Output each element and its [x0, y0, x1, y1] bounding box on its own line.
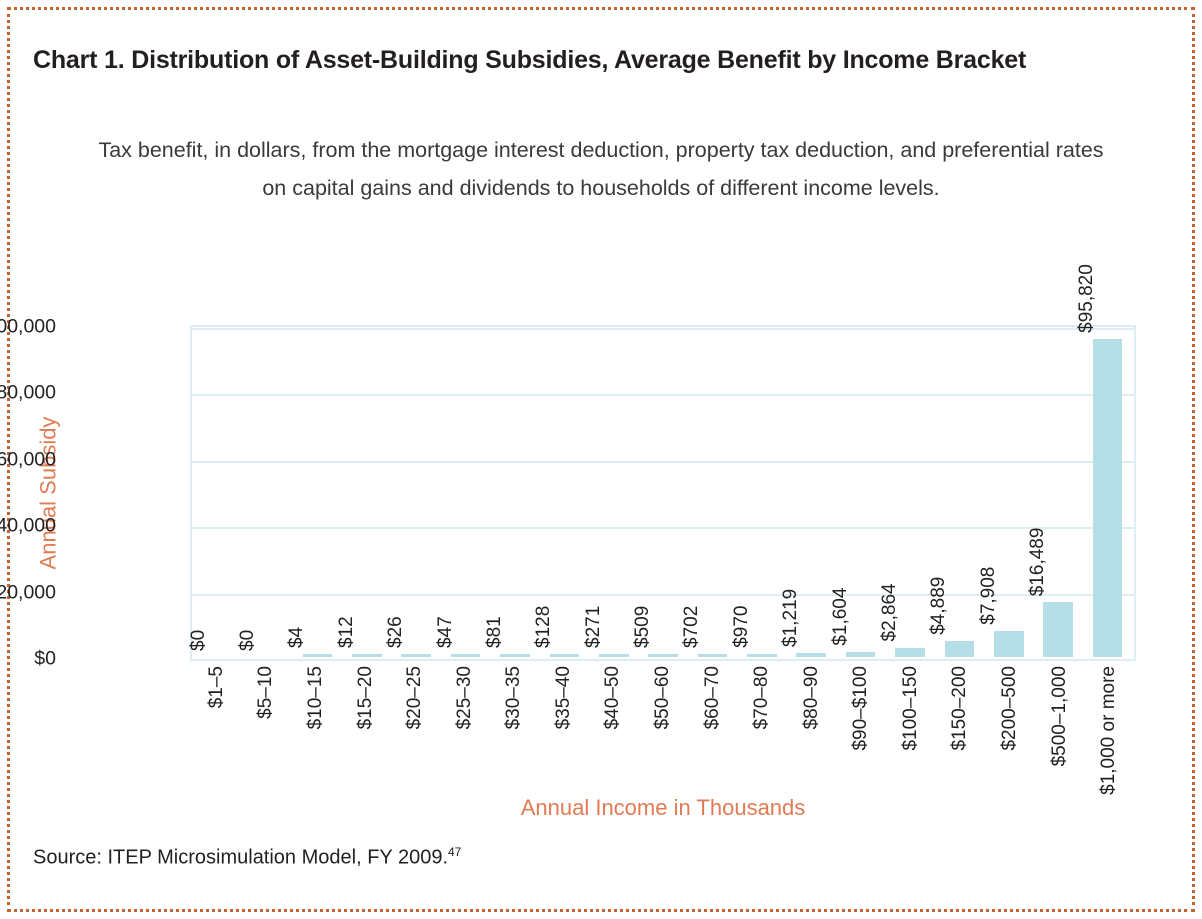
- x-axis-tick-slot: $30–35: [489, 666, 539, 786]
- bar-value-label: $128: [533, 606, 555, 648]
- x-axis-tick-slot: $100–150: [886, 666, 936, 786]
- x-axis-tick-label: $60–70: [702, 666, 724, 729]
- x-axis-tick-slot: $1,000 or more: [1084, 666, 1134, 786]
- x-axis-tick-slot: $50–60: [638, 666, 688, 786]
- bar: [895, 648, 925, 658]
- chart-page: Chart 1. Distribution of Asset-Building …: [0, 0, 1202, 919]
- bar-value-label: $12: [336, 616, 358, 648]
- bar-slot: $12: [342, 329, 391, 657]
- bar-value-label: $0: [188, 630, 210, 651]
- x-axis-tick-label: $500–1,000: [1049, 666, 1071, 766]
- bar-value-label: $4: [286, 627, 308, 648]
- bar-value-label: $7,908: [978, 567, 1000, 625]
- bar-value-label: $1,604: [830, 588, 852, 646]
- bar: [994, 631, 1024, 657]
- x-axis-tick-label: $20–25: [404, 666, 426, 729]
- bar: [550, 654, 580, 657]
- bar: [698, 654, 728, 657]
- y-axis-tick-label: $0: [0, 648, 56, 671]
- source-note: Source: ITEP Microsimulation Model, FY 2…: [33, 845, 461, 870]
- x-axis-tick-label: $15–20: [355, 666, 377, 729]
- bar: [648, 654, 678, 657]
- x-axis-tick-label: $150–200: [949, 666, 971, 751]
- bar-slot: $1,604: [836, 329, 885, 657]
- bar-value-label: $47: [435, 616, 457, 648]
- x-axis-tick-slot: $15–20: [341, 666, 391, 786]
- x-axis-tick-slot: $500–1,000: [1035, 666, 1085, 786]
- x-axis-tick-slot: $35–40: [539, 666, 589, 786]
- bar: [796, 653, 826, 657]
- bar-slot: $1,219: [787, 329, 836, 657]
- bar-slot: $4: [293, 329, 342, 657]
- x-axis-tick-slot: $80–90: [787, 666, 837, 786]
- y-axis-title-text: Annual Subsidy: [35, 417, 61, 570]
- bar-slot: $7,908: [984, 329, 1033, 657]
- bar-series: $0$0$4$12$26$47$81$128$271$509$702$970$1…: [194, 329, 1132, 657]
- bar-slot: $702: [688, 329, 737, 657]
- x-axis-tick-slot: $20–25: [390, 666, 440, 786]
- x-axis-tick-label: $40–50: [602, 666, 624, 729]
- x-axis-tick-label: $1,000 or more: [1098, 666, 1120, 795]
- x-axis-tick-label: $100–150: [900, 666, 922, 751]
- bar-value-label: $271: [583, 606, 605, 648]
- bar: [747, 654, 777, 657]
- plot-area-wrapper: $0$0$4$12$26$47$81$128$271$509$702$970$1…: [190, 325, 1136, 661]
- x-axis-tick-label: $80–90: [801, 666, 823, 729]
- bar-slot: $0: [243, 329, 292, 657]
- y-axis-title: Annual Subsidy: [30, 325, 66, 661]
- y-axis-tick-label: $20,000: [0, 581, 56, 604]
- x-axis-tick-label: $1–5: [206, 666, 228, 708]
- bar: [303, 654, 333, 657]
- x-axis-tick-slot: $5–10: [242, 666, 292, 786]
- bar-value-label: $0: [237, 630, 259, 651]
- x-axis-tick-slot: $60–70: [688, 666, 738, 786]
- bar-value-label: $81: [484, 616, 506, 648]
- x-axis-tick-slot: $40–50: [589, 666, 639, 786]
- x-axis-tick-slot: $200–500: [985, 666, 1035, 786]
- x-axis-title: Annual Income in Thousands: [190, 795, 1136, 821]
- bar-slot: $271: [589, 329, 638, 657]
- x-axis-tick-label: $25–30: [454, 666, 476, 729]
- x-axis-tick-label: $5–10: [255, 666, 277, 719]
- bar: [451, 654, 481, 657]
- x-axis-tick-label: $35–40: [553, 666, 575, 729]
- x-axis-tick-labels: $1–5$5–10$10–15$15–20$20–25$25–30$30–35$…: [192, 666, 1134, 786]
- bar-slot: $128: [540, 329, 589, 657]
- bar-value-label: $26: [385, 616, 407, 648]
- x-axis-tick-slot: $1–5: [192, 666, 242, 786]
- x-axis-tick-slot: $10–15: [291, 666, 341, 786]
- bar: [500, 654, 530, 657]
- x-axis-tick-label: $90–$100: [850, 666, 872, 751]
- x-axis-tick-label: $10–15: [305, 666, 327, 729]
- y-axis-tick-label: $40,000: [0, 515, 56, 538]
- source-text: Source: ITEP Microsimulation Model, FY 2…: [33, 847, 448, 869]
- y-axis-tick-label: $80,000: [0, 382, 56, 405]
- bar: [846, 652, 876, 657]
- bar-slot: $16,489: [1033, 329, 1082, 657]
- bar-value-label: $1,219: [780, 589, 802, 647]
- bar-slot: $0: [194, 329, 243, 657]
- chart-subtitle: Tax benefit, in dollars, from the mortga…: [96, 131, 1106, 207]
- x-axis-tick-label: $30–35: [503, 666, 525, 729]
- y-axis-tick-label: $100,000: [0, 316, 56, 339]
- x-axis-tick-label: $70–80: [751, 666, 773, 729]
- plot-area: $0$0$4$12$26$47$81$128$271$509$702$970$1…: [190, 325, 1136, 661]
- bar-value-label: $2,864: [879, 583, 901, 641]
- y-axis-tick-label: $60,000: [0, 448, 56, 471]
- bar: [1093, 339, 1123, 657]
- source-footnote-marker: 47: [448, 845, 461, 859]
- bar-value-label: $702: [681, 606, 703, 648]
- bar-value-label: $509: [632, 606, 654, 648]
- bar-slot: $26: [392, 329, 441, 657]
- x-axis-tick-slot: $70–80: [737, 666, 787, 786]
- x-axis-tick-slot: $25–30: [440, 666, 490, 786]
- bar: [401, 654, 431, 657]
- bar-slot: $4,889: [935, 329, 984, 657]
- bar: [599, 654, 629, 657]
- chart-title: Chart 1. Distribution of Asset-Building …: [33, 46, 1163, 75]
- bar-slot: $47: [441, 329, 490, 657]
- bar-value-label: $4,889: [928, 577, 950, 635]
- x-axis-tick-slot: $90–$100: [837, 666, 887, 786]
- bar-value-label: $970: [731, 605, 753, 647]
- bar: [1043, 602, 1073, 657]
- bar-slot: $95,820: [1083, 329, 1132, 657]
- x-axis-tick-slot: $150–200: [936, 666, 986, 786]
- bar: [352, 654, 382, 657]
- bar-value-label: $16,489: [1027, 528, 1049, 597]
- bar: [945, 641, 975, 657]
- x-axis-tick-label: $200–500: [999, 666, 1021, 751]
- bar-value-label: $95,820: [1076, 264, 1098, 333]
- x-axis-tick-label: $50–60: [652, 666, 674, 729]
